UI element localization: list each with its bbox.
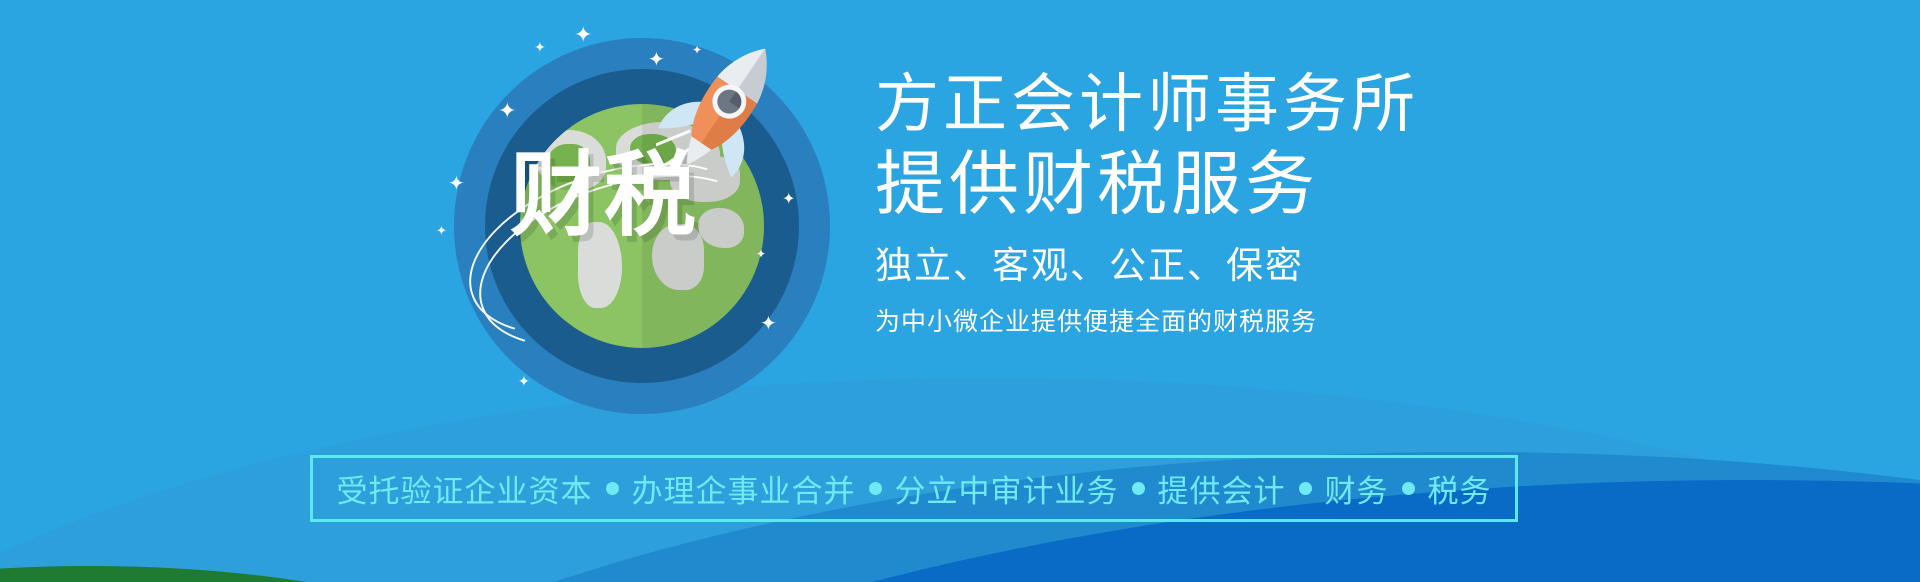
service-separator-dot — [869, 482, 882, 495]
service-item[interactable]: 分立中审计业务 — [895, 466, 1119, 511]
service-item[interactable]: 提供会计 — [1158, 466, 1286, 511]
service-separator-dot — [1299, 482, 1312, 495]
star-icon: ✦ — [756, 248, 766, 260]
star-icon: ✦ — [692, 44, 702, 56]
service-separator-dot — [1402, 482, 1415, 495]
star-icon: ✦ — [518, 374, 530, 388]
headline-primary: 方正会计师事务所 — [875, 70, 1655, 139]
service-item[interactable]: 办理企事业合并 — [632, 466, 856, 511]
star-icon: ✦ — [648, 50, 665, 70]
service-item[interactable]: 税务 — [1428, 466, 1492, 511]
star-icon: ✦ — [534, 40, 546, 54]
headline-block: 方正会计师事务所 提供财税服务 独立、客观、公正、保密 为中小微企业提供便捷全面… — [875, 70, 1655, 338]
star-icon: ✦ — [436, 224, 447, 237]
star-icon: ✦ — [574, 24, 592, 46]
service-separator-dot — [1132, 482, 1145, 495]
service-item[interactable]: 受托验证企业资本 — [337, 466, 593, 511]
star-icon: ✦ — [498, 100, 516, 122]
rocket-icon — [656, 28, 796, 178]
star-icon: ✦ — [760, 314, 777, 334]
headline-secondary: 提供财税服务 — [875, 145, 1655, 223]
hero-banner: 财税 — [0, 0, 1920, 582]
services-list: 受托验证企业资本办理企事业合并分立中审计业务提供会计财务税务 — [337, 466, 1492, 511]
star-icon: ✦ — [782, 192, 795, 208]
subhead-values: 独立、客观、公正、保密 — [875, 242, 1655, 290]
service-separator-dot — [606, 482, 619, 495]
service-item[interactable]: 财务 — [1325, 466, 1389, 511]
star-icon: ✦ — [448, 174, 465, 194]
brand-logo: 财税 — [430, 22, 850, 430]
subhead-tagline: 为中小微企业提供便捷全面的财税服务 — [875, 306, 1655, 339]
services-bar: 受托验证企业资本办理企事业合并分立中审计业务提供会计财务税务 — [310, 455, 1518, 522]
